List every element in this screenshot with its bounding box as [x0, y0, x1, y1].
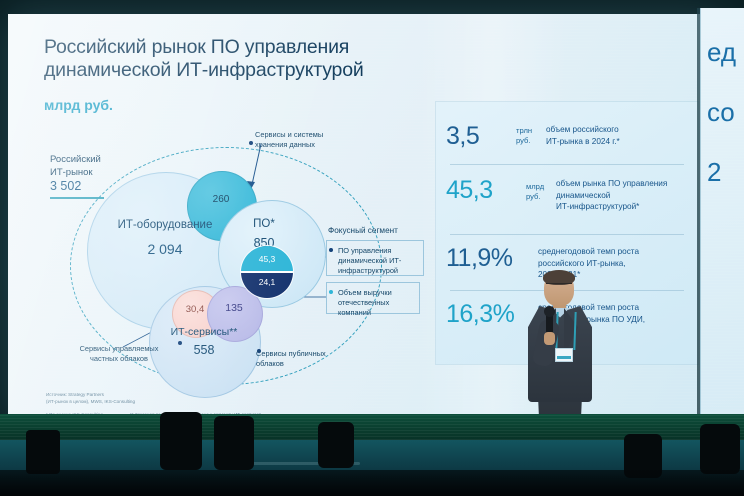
stats-divider-1 [450, 164, 684, 165]
pie-slice-top-label: 45,3 [241, 254, 293, 264]
speaker-glasses [546, 283, 572, 290]
stats-divider-2 [450, 234, 684, 235]
pie-divider [241, 271, 293, 273]
stat-unit-2-line2: руб. [526, 192, 540, 201]
stat-unit-2-line1: млрд [526, 182, 544, 191]
secondary-screen-line-3: 2 [707, 148, 721, 196]
legend-label-1: ПО управления динамической ИТ-инфраструк… [338, 246, 420, 277]
stage-light-4 [318, 422, 354, 468]
stat-value-2: 45,3 [446, 176, 493, 205]
market-total-label-line2: ИТ-рынок [50, 167, 93, 178]
annotation-private-cloud: Сервисы управляемых частных облаков [70, 344, 168, 364]
source-line-2: (ИТ-рынок в целом), MWS, IKS-Consulting [46, 399, 135, 404]
slide-subtitle: млрд руб. [44, 97, 113, 113]
secondary-screen: ед со 2 [700, 8, 744, 428]
annotation-dot-private-cloud [178, 341, 182, 345]
annotation-public-cloud: Сервисы публичных облаков [256, 349, 336, 369]
stat-desc-1-line2: ИТ-рынка в 2024 г.* [546, 137, 620, 146]
stat-unit-1-line1: трлн [516, 126, 532, 135]
market-total-value: 3 502 [50, 179, 81, 193]
stat-desc-3-line2: российского ИТ-рынка, [538, 259, 626, 268]
stat-unit-1: трлн руб. [516, 126, 532, 147]
speaker-badge [555, 348, 573, 362]
microphone-head [544, 306, 555, 317]
legend-dot-1 [329, 248, 333, 252]
stat-value-4: 16,3% [446, 300, 514, 329]
secondary-screen-line-1: ед [707, 28, 736, 76]
stat-desc-1: объем российского ИТ-рынка в 2024 г.* [546, 124, 620, 147]
secondary-screen-line-2: со [707, 88, 735, 136]
speaker-hand [544, 332, 555, 345]
stat-unit-2: млрд руб. [526, 182, 544, 203]
pie-slice-bottom-label: 24,1 [241, 277, 293, 287]
annotation-storage: Сервисы и системы хранения данных [255, 130, 347, 150]
stage-scene: Российский рынок ПО управления динамичес… [0, 0, 744, 496]
stat-desc-2-line2: динамической [556, 191, 610, 200]
label-it-services: ИТ-сервисы** [149, 326, 259, 338]
annotation-dot-storage [249, 141, 253, 145]
stat-desc-1-line1: объем российского [546, 125, 619, 134]
stat-desc-2-line1: объем рынка ПО управления [556, 179, 667, 188]
stat-unit-1-line2: руб. [516, 136, 530, 145]
source-line-1: Источник: Strategy Partners [46, 392, 104, 397]
label-software: ПО* [218, 218, 310, 230]
market-total-label-line1: Российский [50, 154, 101, 165]
slide-source: Источник: Strategy Partners (ИТ-рынок в … [46, 392, 135, 406]
stat-desc-3-line1: среднегодовой темп роста [538, 247, 639, 256]
stat-value-1: 3,5 [446, 122, 479, 151]
legend-dot-2 [329, 290, 333, 294]
value-storage: 260 [187, 194, 255, 205]
slide-title: Российский рынок ПО управления динамичес… [44, 36, 444, 82]
stage-light-3 [214, 416, 254, 470]
slide-content: Российский рынок ПО управления динамичес… [8, 14, 724, 426]
stage-front-shadow [0, 470, 744, 496]
stage-light-2 [160, 412, 202, 470]
stat-desc-2: объем рынка ПО управления динамической И… [556, 178, 667, 213]
stage-light-1 [26, 430, 60, 474]
stage-light-6 [700, 424, 740, 474]
presentation-screen: Российский рынок ПО управления динамичес… [8, 14, 724, 426]
stat-desc-2-line3: ИТ-инфраструктурой* [556, 202, 639, 211]
focus-segment-header: Фокусный сегмент [328, 226, 398, 235]
value-public-cloud: 135 [207, 302, 261, 314]
stat-value-3: 11,9% [446, 244, 513, 273]
market-total-label: Российский ИТ-рынок [50, 154, 101, 180]
legend-label-2: Объем выручки отечественных компаний [338, 288, 416, 319]
